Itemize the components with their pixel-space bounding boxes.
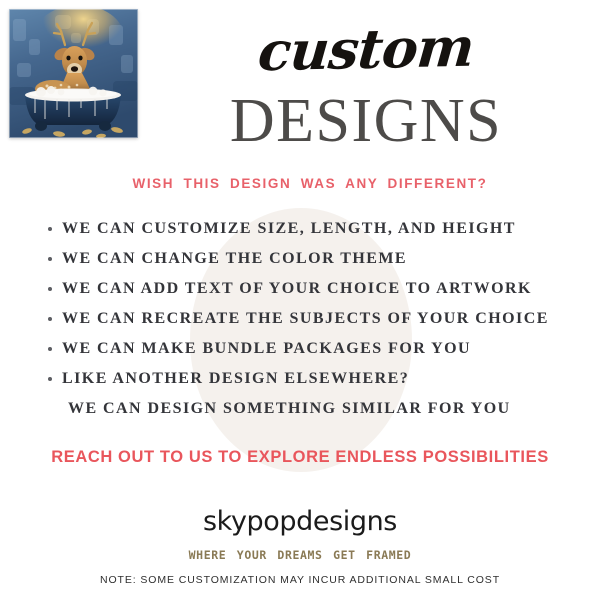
- call-to-action-text: REACH OUT TO US TO EXPLORE ENDLESS POSSI…: [20, 448, 580, 467]
- headline-serif-designs: DESIGNS: [140, 90, 592, 153]
- list-item: WE CAN RECREATE THE SUBJECTS OF YOUR CHO…: [44, 304, 589, 334]
- brand-tagline: WHERE YOUR DREAMS GET FRAMED: [0, 548, 600, 562]
- list-item: LIKE ANOTHER DESIGN ELSEWHERE?: [44, 364, 589, 394]
- list-item-label: LIKE ANOTHER DESIGN ELSEWHERE?: [62, 370, 409, 387]
- bullet-dot-icon: [48, 347, 52, 351]
- list-item-continuation: WE CAN DESIGN SOMETHING SIMILAR FOR YOU: [44, 394, 589, 424]
- deer-in-bathtub-icon: [9, 9, 138, 138]
- headline-block: custom DESIGNS: [140, 22, 592, 153]
- bullet-dot-icon: [48, 287, 52, 291]
- list-item: WE CAN ADD TEXT OF YOUR CHOICE TO ARTWOR…: [44, 274, 589, 304]
- list-item-label: WE CAN CUSTOMIZE SIZE, LENGTH, AND HEIGH…: [62, 220, 516, 237]
- list-item: WE CAN CUSTOMIZE SIZE, LENGTH, AND HEIGH…: [44, 214, 589, 244]
- list-item-label: WE CAN ADD TEXT OF YOUR CHOICE TO ARTWOR…: [62, 280, 532, 297]
- footer-note: NOTE: SOME CUSTOMIZATION MAY INCUR ADDIT…: [0, 574, 600, 586]
- customization-options-list: WE CAN CUSTOMIZE SIZE, LENGTH, AND HEIGH…: [44, 214, 589, 424]
- list-item: WE CAN MAKE BUNDLE PACKAGES FOR YOU: [44, 334, 589, 364]
- product-artwork-image[interactable]: [9, 9, 138, 138]
- bullet-dot-icon: [48, 377, 52, 381]
- poster-canvas: custom DESIGNS WISH THIS DESIGN WAS ANY …: [0, 0, 600, 600]
- list-item-label: WE CAN MAKE BUNDLE PACKAGES FOR YOU: [62, 340, 471, 357]
- bullet-dot-icon: [48, 227, 52, 231]
- bullet-dot-icon: [48, 317, 52, 321]
- subtitle-question: WISH THIS DESIGN WAS ANY DIFFERENT?: [100, 176, 520, 191]
- list-item-label: WE CAN DESIGN SOMETHING SIMILAR FOR YOU: [68, 400, 511, 417]
- list-item: WE CAN CHANGE THE COLOR THEME: [44, 244, 589, 274]
- list-item-label: WE CAN CHANGE THE COLOR THEME: [62, 250, 407, 267]
- headline-script-custom: custom: [137, 17, 594, 80]
- bullet-dot-icon: [48, 257, 52, 261]
- brand-name: skypopdesigns: [0, 506, 600, 537]
- list-item-label: WE CAN RECREATE THE SUBJECTS OF YOUR CHO…: [62, 310, 549, 327]
